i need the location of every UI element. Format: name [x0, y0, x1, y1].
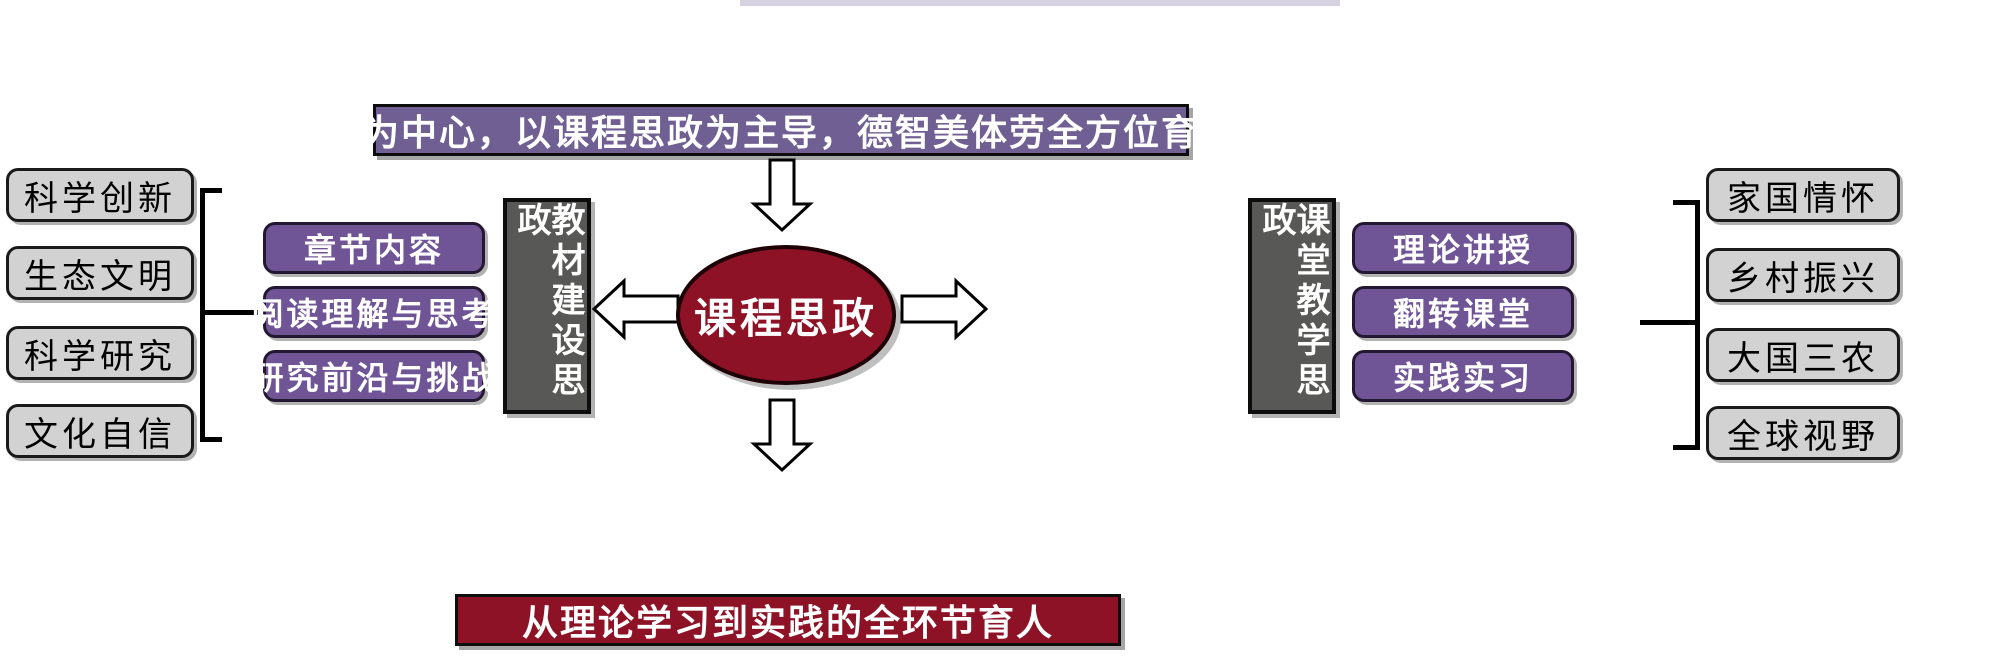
left-outer-box-4[interactable]: 文化自信: [6, 404, 194, 458]
right-bracket: [1640, 200, 1700, 450]
left-outer-box-1[interactable]: 科学创新: [6, 168, 194, 222]
left-inner-box-3[interactable]: 研究前沿与挑战: [263, 350, 485, 402]
arrow-down-to-outcome: [752, 400, 812, 472]
right-outer-box-2[interactable]: 乡村振兴: [1706, 248, 1900, 302]
arrow-down-from-title: [752, 160, 812, 232]
left-outer-box-2[interactable]: 生态文明: [6, 246, 194, 300]
right-inner-box-3[interactable]: 实践实习: [1352, 350, 1574, 402]
left-inner-box-1[interactable]: 章节内容: [263, 222, 485, 274]
right-outer-box-1[interactable]: 家国情怀: [1706, 168, 1900, 222]
arrow-left-to-textbook: [594, 278, 680, 340]
center-node-ideology[interactable]: 课程思政: [676, 245, 896, 385]
arrow-right-to-classroom: [900, 278, 986, 340]
outcome-banner: 从理论学习到实践的全环节育人: [455, 594, 1121, 646]
left-outer-box-3[interactable]: 科学研究: [6, 326, 194, 380]
right-outer-box-4[interactable]: 全球视野: [1706, 406, 1900, 460]
right-pillar-classroom[interactable]: 课堂教学思政: [1248, 198, 1336, 414]
top-edge-strip: [740, 0, 1340, 6]
left-inner-box-2[interactable]: 阅读理解与思考: [263, 286, 485, 338]
right-outer-box-3[interactable]: 大国三农: [1706, 328, 1900, 382]
left-pillar-textbook[interactable]: 教材建设思政: [503, 198, 591, 414]
right-inner-box-1[interactable]: 理论讲授: [1352, 222, 1574, 274]
title-banner: 以学生为中心，以课程思政为主导，德智美体劳全方位育人理念: [373, 104, 1189, 156]
right-inner-box-2[interactable]: 翻转课堂: [1352, 286, 1574, 338]
diagram-canvas: 以学生为中心，以课程思政为主导，德智美体劳全方位育人理念 科学创新 生态文明 科…: [0, 0, 2000, 658]
